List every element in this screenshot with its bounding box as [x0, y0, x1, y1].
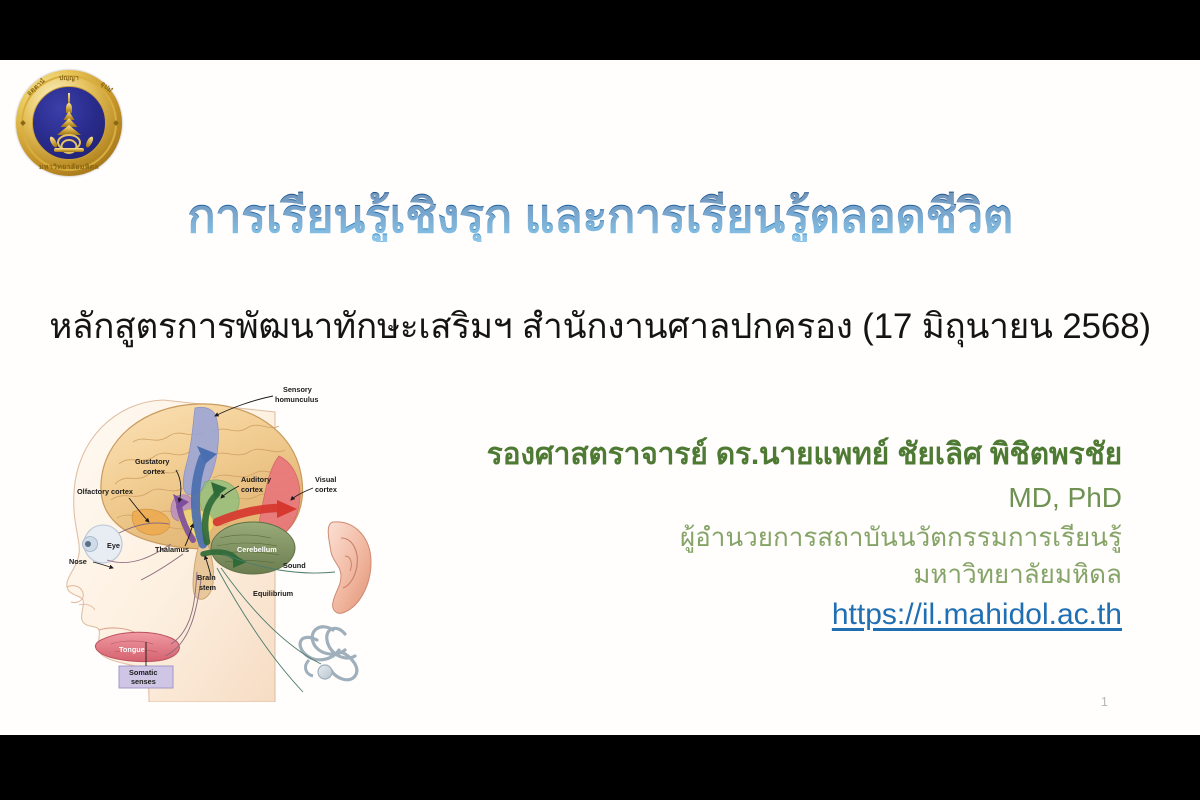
label-thalamus: Thalamus [155, 545, 189, 554]
label-visual-2: cortex [315, 485, 337, 494]
seal-blue-field [32, 86, 106, 160]
slide-viewer: ปญฺญา อตฺตานํ อุปมํ มหาวิทยาลัยมหิดล [0, 0, 1200, 800]
speaker-position: ผู้อำนวยการสถาบันนวัตกรรมการเรียนรู้ [402, 519, 1122, 556]
sensory-pathways-brain-diagram: Sensory homunculus Gustatory cortex Olfa… [45, 372, 385, 702]
label-sensory-1: Sensory [283, 385, 313, 394]
slide-title: การเรียนรู้เชิงรุก และการเรียนรู้ตลอดชีว… [0, 190, 1200, 242]
letterbox-bar-bottom [0, 735, 1200, 800]
label-olfactory: Olfactory cortex [77, 487, 133, 496]
label-nose: Nose [69, 557, 87, 566]
slide-page-number: 1 [1101, 694, 1108, 709]
label-sound: Sound [283, 561, 306, 570]
label-tongue: Tongue [119, 645, 145, 654]
speaker-degree: MD, PhD [402, 478, 1122, 519]
speaker-info-block: รองศาสตราจารย์ ดร.นายแพทย์ ชัยเลิศ พิชิต… [402, 435, 1122, 632]
seal-text-bottom: มหาวิทยาลัยมหิดล [39, 162, 99, 173]
presentation-slide: ปญฺญา อตฺตานํ อุปมํ มหาวิทยาลัยมหิดล [0, 60, 1200, 735]
seal-crown-emblem [37, 93, 101, 159]
label-equilibrium: Equilibrium [253, 589, 294, 598]
mahidol-university-seal-logo: ปญฺญา อตฺตานํ อุปมํ มหาวิทยาลัยมหิดล [16, 70, 122, 176]
label-eye: Eye [107, 541, 120, 550]
label-cerebellum: Cerebellum [237, 545, 277, 554]
seal-diamond-left [20, 120, 26, 126]
label-somatic-1: Somatic [129, 668, 157, 677]
institute-website-link[interactable]: https://il.mahidol.ac.th [832, 598, 1122, 632]
label-gustatory-2: cortex [143, 467, 165, 476]
label-auditory-2: cortex [241, 485, 263, 494]
seal-text-top: ปญฺญา [59, 73, 79, 83]
letterbox-bar-top [0, 0, 1200, 60]
label-gustatory-1: Gustatory [135, 457, 170, 466]
label-visual-1: Visual [315, 475, 336, 484]
seal-diamond-right [113, 120, 119, 126]
label-brainstem-1: Brain [197, 573, 216, 582]
speaker-organization: มหาวิทยาลัยมหิดล [402, 556, 1122, 593]
label-brainstem-2: stem [199, 583, 217, 592]
label-auditory-1: Auditory [241, 475, 272, 484]
label-sensory-2: homunculus [275, 395, 318, 404]
speaker-name: รองศาสตราจารย์ ดร.นายแพทย์ ชัยเลิศ พิชิต… [402, 435, 1122, 474]
slide-subtitle: หลักสูตรการพัฒนาทักษะเสริมฯ สำนักงานศาลป… [0, 307, 1200, 347]
label-somatic-2: senses [131, 677, 156, 686]
